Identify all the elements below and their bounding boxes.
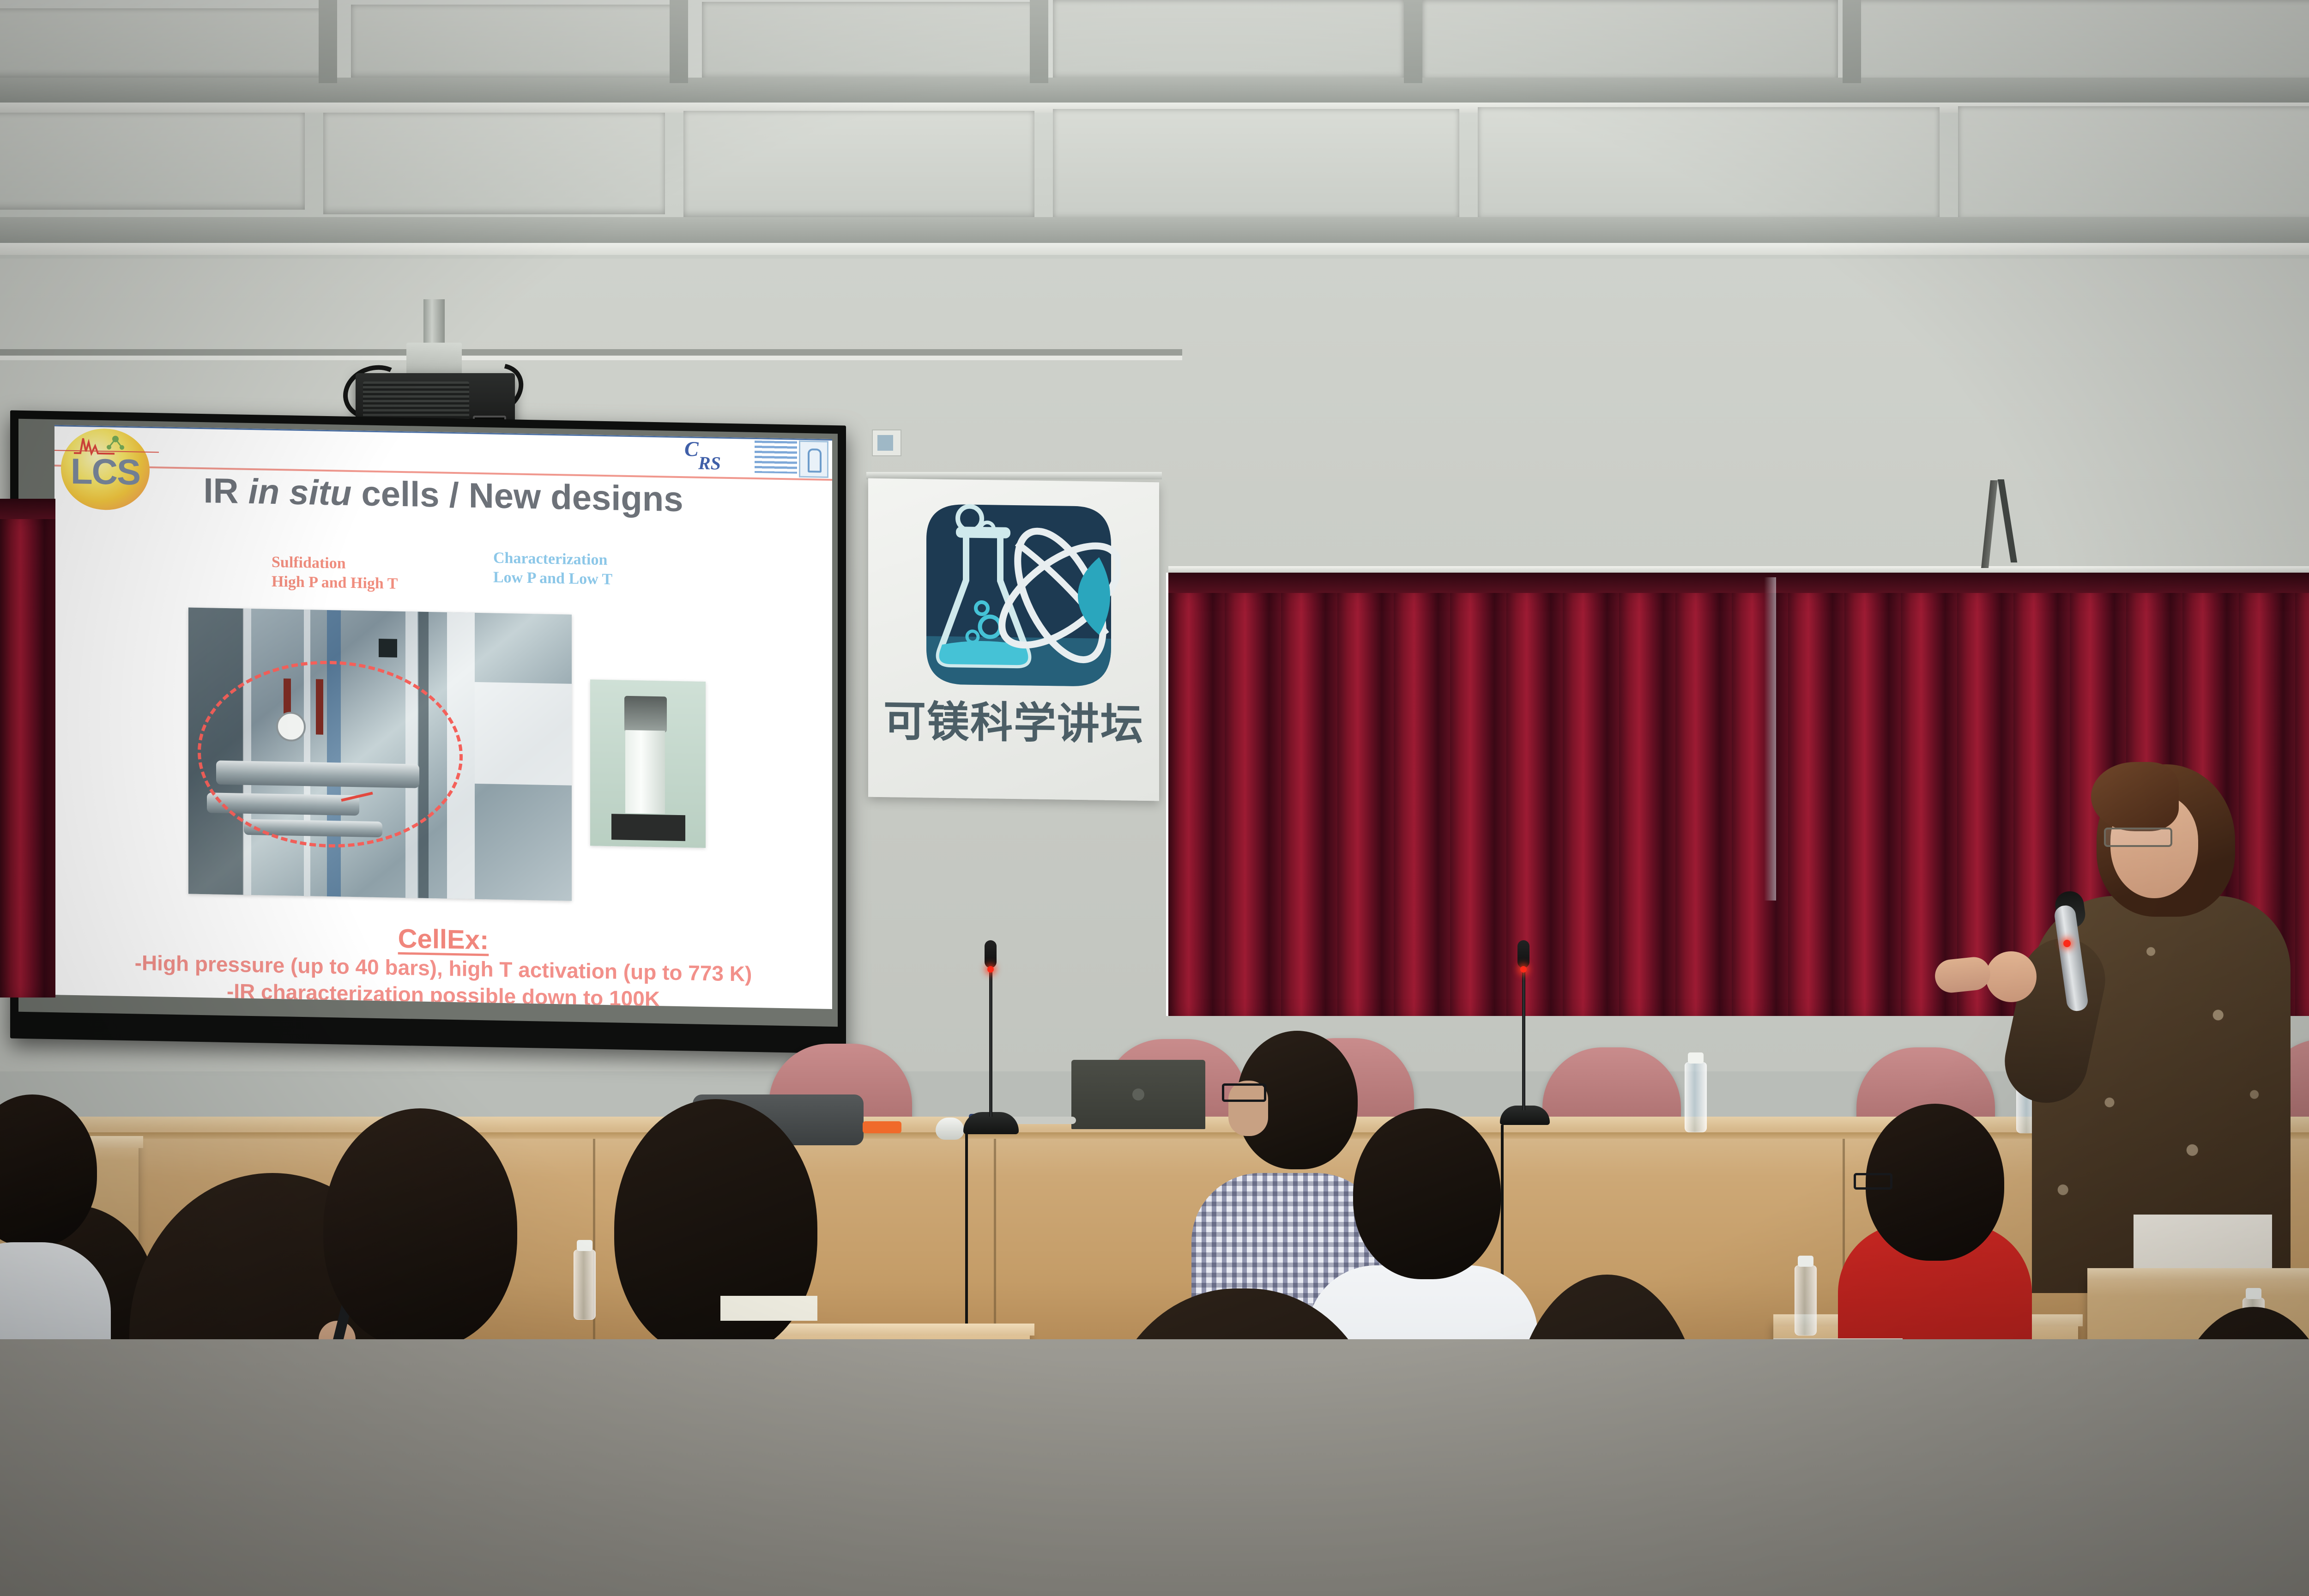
cell-base	[611, 814, 685, 841]
audience-person-head	[323, 1108, 517, 1348]
bottle-cap	[577, 1240, 592, 1251]
banner-logo	[908, 497, 1120, 694]
water-bottle	[1685, 1062, 1707, 1132]
cnrs-logo-c: C	[684, 438, 699, 460]
projector-mount-bracket	[406, 343, 462, 378]
curtain-header	[1168, 573, 2309, 593]
event-banner: 可镁科学讲坛	[868, 478, 1159, 801]
microphone-led	[987, 966, 994, 973]
audience-glasses	[1222, 1083, 1266, 1102]
equipment-photo-main	[188, 607, 572, 901]
curtain-left	[0, 499, 55, 997]
presentation-slide: LCS C RS IR in situ cells / New designs …	[54, 425, 832, 1009]
wall-sensor-device	[872, 429, 901, 456]
caption-right-line1: Characterization	[493, 549, 612, 570]
microphone-stem	[989, 964, 992, 1117]
microphone-head	[985, 940, 997, 968]
wall-trim-highlight	[0, 356, 1182, 360]
speaker-hand	[1986, 951, 2037, 1002]
water-bottle	[574, 1250, 596, 1320]
projection-screen: LCS C RS IR in situ cells / New designs …	[10, 410, 846, 1053]
cell-column	[625, 730, 665, 814]
caption-left-line1: Sulfidation	[272, 553, 398, 574]
paper-sheet	[720, 1296, 817, 1321]
equipment-photo-side	[590, 679, 706, 848]
cnrs-bars-icon	[755, 441, 797, 474]
flask-atom-icon	[908, 497, 1120, 694]
audience-person-head	[1353, 1108, 1501, 1279]
cnrs-logo: C RS	[684, 438, 744, 478]
bottle-cap	[1688, 1052, 1704, 1064]
slide-title-italic: in situ	[248, 472, 352, 513]
bottle-cap	[1798, 1256, 1813, 1267]
bottle-cap	[2246, 1288, 2261, 1299]
wall-trim	[0, 349, 1182, 356]
water-bottle	[1795, 1265, 1817, 1336]
floor	[0, 1339, 2309, 1596]
window-light-secondary	[1764, 577, 1776, 901]
cnrs-logo-rs: RS	[698, 453, 721, 474]
curtain-header	[0, 499, 55, 519]
curtain-fabric	[0, 499, 55, 997]
ceiling	[0, 0, 2309, 296]
speaker-glasses	[2104, 828, 2172, 847]
orange-marker	[863, 1121, 901, 1133]
banner-chinese-text: 可镁科学讲坛	[868, 699, 1159, 748]
microphone-stem	[1522, 963, 1525, 1110]
microphone-led	[1520, 966, 1527, 973]
cellex-block: CellEx: -High pressure (up to 40 bars), …	[54, 917, 832, 1009]
caption-right-line2: Low P and Low T	[493, 568, 612, 590]
speaker-hair-front	[2091, 762, 2179, 831]
slide-title-prefix: IR	[204, 471, 248, 511]
microphone-head	[1517, 940, 1529, 968]
caption-left-line2: High P and High T	[272, 572, 398, 594]
institution-mark-icon	[799, 441, 828, 478]
molecule-icon	[105, 433, 126, 452]
audience-desk-top	[2087, 1268, 2309, 1280]
lecture-hall-photo: LCS C RS IR in situ cells / New designs …	[0, 0, 2309, 1596]
handheld-mic-led	[2063, 940, 2071, 947]
computer-mouse	[936, 1118, 964, 1140]
cell-valve	[624, 696, 667, 733]
caption-left: Sulfidation High P and High T	[272, 553, 398, 594]
caption-right: Characterization Low P and Low T	[493, 549, 612, 590]
projector-vent	[363, 381, 469, 421]
dell-laptop	[1071, 1060, 1205, 1129]
slide-title-suffix: cells / New designs	[351, 474, 683, 519]
banner-rail	[866, 472, 1162, 479]
audience-glasses	[1854, 1173, 1892, 1190]
